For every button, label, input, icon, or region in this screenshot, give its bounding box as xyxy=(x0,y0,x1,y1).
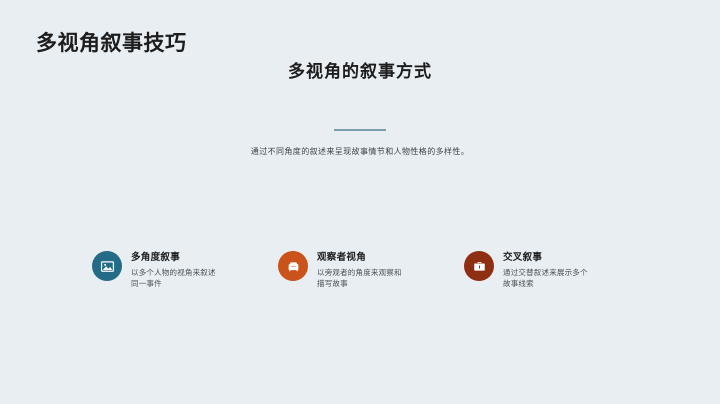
feature-title: 交叉叙事 xyxy=(503,251,595,264)
feature-description: 以多个人物的视角来叙述同一事件 xyxy=(131,267,223,289)
subtitle: 通过不同角度的叙述来呈现故事情节和人物性格的多样性。 xyxy=(0,146,720,157)
feature-title: 多角度叙事 xyxy=(131,251,223,264)
list-item: 交叉叙事 通过交替叙述来展示多个故事线索 xyxy=(464,250,650,289)
feature-list: 多角度叙事 以多个人物的视角来叙述同一事件 观察者视角 以旁观者的角度来观察和描… xyxy=(92,250,652,289)
list-item: 多角度叙事 以多个人物的视角来叙述同一事件 xyxy=(92,250,278,289)
page-title: 多视角叙事技巧 xyxy=(36,27,187,57)
list-item: 观察者视角 以旁观者的角度来观察和描写故事 xyxy=(278,250,464,289)
briefcase-icon xyxy=(464,251,494,281)
image-icon xyxy=(92,251,122,281)
feature-title: 观察者视角 xyxy=(317,251,409,264)
divider-wrapper xyxy=(0,129,720,131)
feature-text: 交叉叙事 通过交替叙述来展示多个故事线索 xyxy=(503,250,595,289)
feature-description: 以旁观者的角度来观察和描写故事 xyxy=(317,267,409,289)
slide: 多视角叙事技巧 多视角的叙事方式 通过不同角度的叙述来呈现故事情节和人物性格的多… xyxy=(0,0,720,404)
feature-description: 通过交替叙述来展示多个故事线索 xyxy=(503,267,595,289)
armchair-icon xyxy=(278,251,308,281)
feature-text: 多角度叙事 以多个人物的视角来叙述同一事件 xyxy=(131,250,223,289)
headline: 多视角的叙事方式 xyxy=(0,57,720,82)
accent-divider xyxy=(334,129,386,131)
feature-text: 观察者视角 以旁观者的角度来观察和描写故事 xyxy=(317,250,409,289)
